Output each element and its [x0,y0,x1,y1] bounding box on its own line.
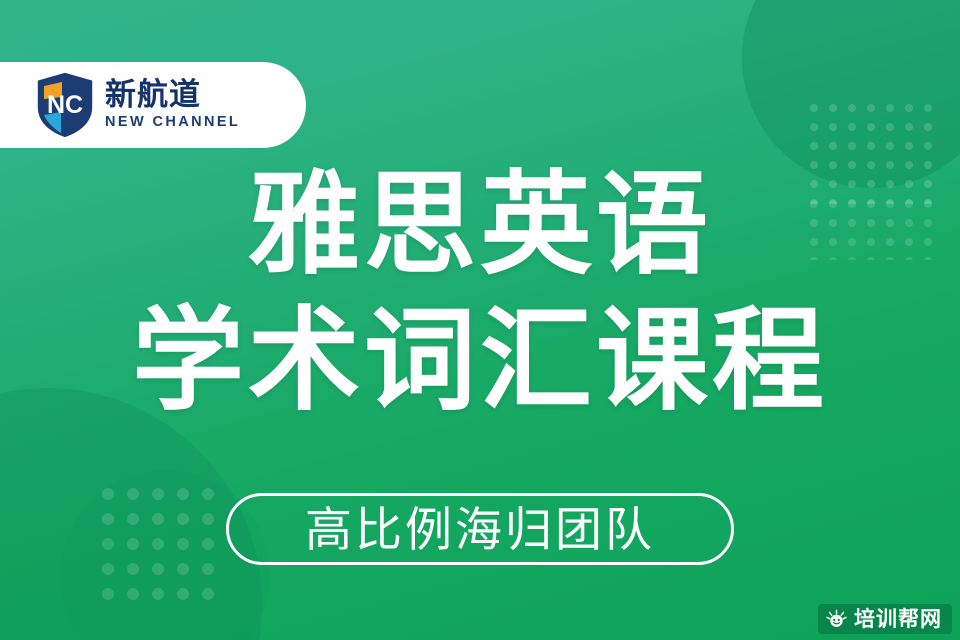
headline-line-1: 雅思英语 [0,160,960,290]
brand-logo: NC 新航道 NEW CHANNEL [0,62,306,148]
headline-line-2: 学术词汇课程 [0,296,960,426]
watermark-badge: 培训帮网 [818,604,952,634]
brand-name-english: NEW CHANNEL [105,115,240,131]
poster-banner: NC 新航道 NEW CHANNEL 雅思英语 学术词汇课程 高比例海归团队 [0,0,960,640]
subtitle-pill: 高比例海归团队 [226,493,734,565]
brand-name-chinese: 新航道 [105,79,240,112]
headline: 雅思英语 学术词汇课程 [0,160,960,426]
watermark-text: 培训帮网 [854,609,942,630]
svg-text:NC: NC [47,91,83,119]
nc-shield-icon: NC [34,71,96,139]
sun-face-icon [826,609,847,630]
subtitle-text: 高比例海归团队 [305,506,655,553]
brand-logo-text: 新航道 NEW CHANNEL [105,79,240,130]
dot-grid-left [96,482,222,608]
